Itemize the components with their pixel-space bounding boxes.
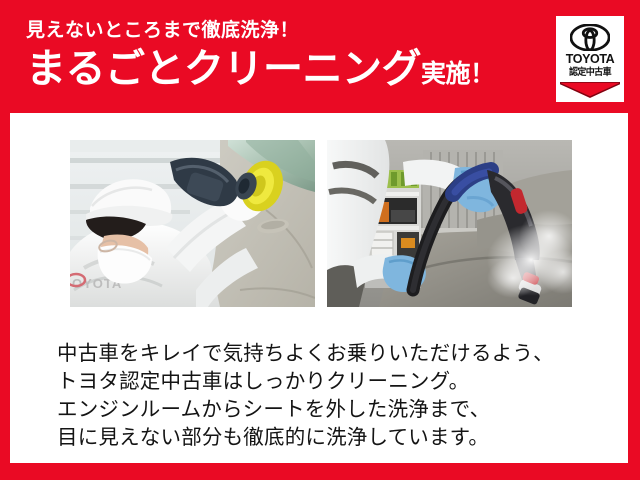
headline-suffix-text: 実施！ [421, 60, 495, 88]
headline-main-text: まるごとクリーニング [26, 47, 421, 91]
header-text-block: 見えないところまで徹底洗浄！ まるごとクリーニング実施！ [26, 20, 546, 89]
header-kicker: 見えないところまで徹底洗浄！ [26, 20, 546, 42]
body-copy: 中古車をキレイで気持ちよくお乗りいただけるよう、 トヨタ認定中古車はしっかりクリ… [57, 340, 602, 452]
toyota-emblem-icon [570, 24, 610, 51]
body-copy-line-4: 目に見えない部分も徹底的に洗浄しています。 [57, 424, 602, 452]
body-copy-line-2: トヨタ認定中古車はしっかりクリーニング。 [57, 368, 602, 396]
photo-interior-steam-cleaning [327, 140, 572, 307]
photo-row: OYOTA [70, 140, 574, 307]
photo-exterior-polishing: OYOTA [70, 140, 315, 307]
body-copy-line-3: エンジンルームからシートを外した洗浄まで、 [57, 396, 602, 424]
header-band: 見えないところまで徹底洗浄！ まるごとクリーニング実施！ TOYOTA 認定中古… [0, 0, 640, 113]
logo-brand-word: TOYOTA [566, 53, 615, 66]
logo-chevron-shape [560, 82, 620, 99]
body-copy-line-1: 中古車をキレイで気持ちよくお乗りいただけるよう、 [57, 340, 602, 368]
content-card: OYOTA [10, 113, 628, 463]
promotional-poster: 見えないところまで徹底洗浄！ まるごとクリーニング実施！ TOYOTA 認定中古… [0, 0, 640, 480]
header-headline: まるごとクリーニング実施！ [26, 49, 546, 89]
photo-interior-steam-cleaning-art [327, 140, 572, 307]
photo-exterior-polishing-art: OYOTA [70, 140, 315, 307]
logo-certification-label: 認定中古車 [569, 68, 611, 77]
toyota-certified-used-car-logo: TOYOTA 認定中古車 [556, 16, 624, 102]
